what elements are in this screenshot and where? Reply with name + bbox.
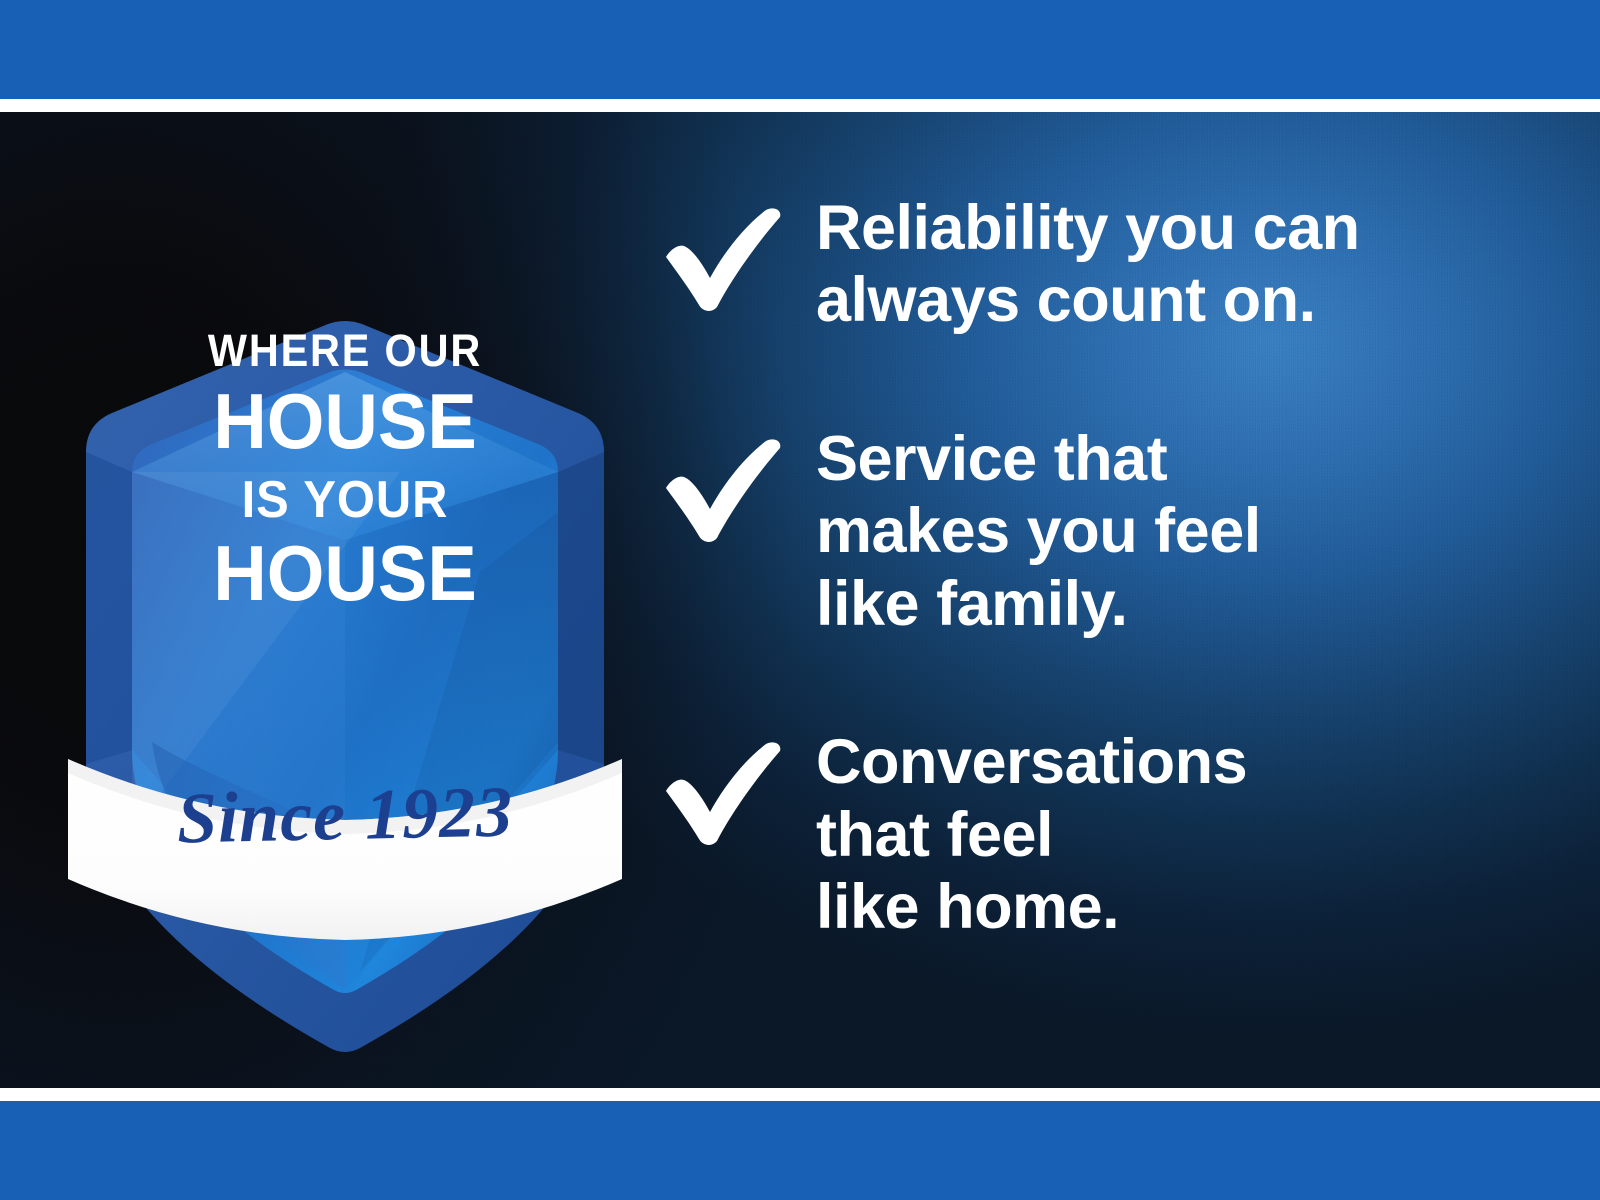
benefit-text: Reliability you can always count on. <box>816 192 1540 337</box>
benefit-text: Conversations that feel like home. <box>816 726 1540 943</box>
benefit-line: that feel <box>816 799 1540 871</box>
list-item: Service that makes you feel like family. <box>660 423 1540 640</box>
benefit-line: makes you feel <box>816 495 1540 567</box>
bottom-brand-bar <box>0 1101 1600 1200</box>
bottom-white-divider <box>0 1088 1600 1101</box>
benefits-list: Reliability you can always count on. Ser… <box>660 192 1540 944</box>
top-white-divider <box>0 99 1600 112</box>
list-item: Reliability you can always count on. <box>660 192 1540 337</box>
benefit-line: like family. <box>816 568 1540 640</box>
list-item: Conversations that feel like home. <box>660 726 1540 943</box>
benefit-text: Service that makes you feel like family. <box>816 423 1540 640</box>
benefit-line: Reliability you can <box>816 192 1540 264</box>
benefit-line: like home. <box>816 871 1540 943</box>
benefit-line: Service that <box>816 423 1540 495</box>
checkmark-icon <box>660 726 816 846</box>
main-stage: WHERE OUR HOUSE IS YOUR HOUSE Since 1923… <box>0 112 1600 1088</box>
benefit-line: Conversations <box>816 726 1540 798</box>
promo-graphic-canvas: WHERE OUR HOUSE IS YOUR HOUSE Since 1923… <box>0 0 1600 1200</box>
checkmark-icon <box>660 192 816 312</box>
company-badge: WHERE OUR HOUSE IS YOUR HOUSE Since 1923 <box>60 272 630 1062</box>
top-brand-bar <box>0 0 1600 99</box>
benefit-line: always count on. <box>816 264 1540 336</box>
checkmark-icon <box>660 423 816 543</box>
